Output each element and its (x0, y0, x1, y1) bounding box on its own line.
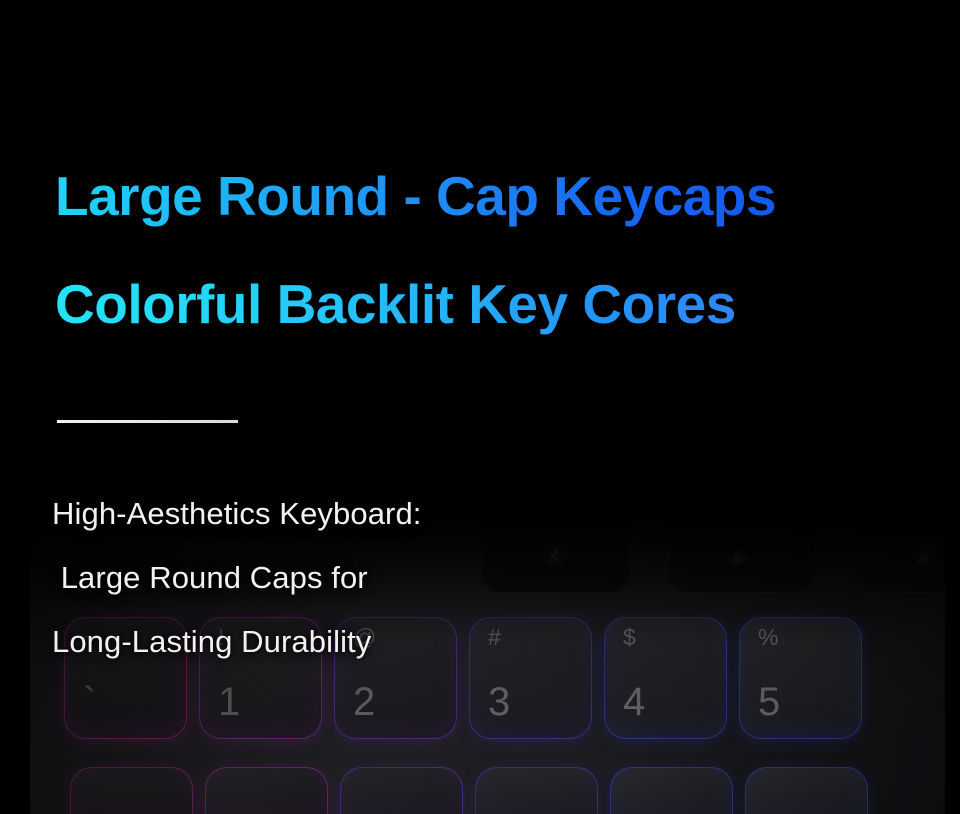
body-text-line-2: Large Round Caps for (52, 560, 368, 596)
body-text-line-1: High-Aesthetics Keyboard: (52, 496, 422, 532)
body-text-line-3: Long-Lasting Durability (52, 624, 371, 660)
headline-line-2: Colorful Backlit Key Cores (55, 272, 736, 336)
product-banner: 🔇 🔈 🔊 ~ ` ! 1 @ (0, 0, 960, 814)
section-divider (57, 420, 238, 423)
headline-line-1: Large Round - Cap Keycaps (55, 164, 776, 228)
banner-content: Large Round - Cap Keycaps Colorful Backl… (0, 0, 960, 814)
